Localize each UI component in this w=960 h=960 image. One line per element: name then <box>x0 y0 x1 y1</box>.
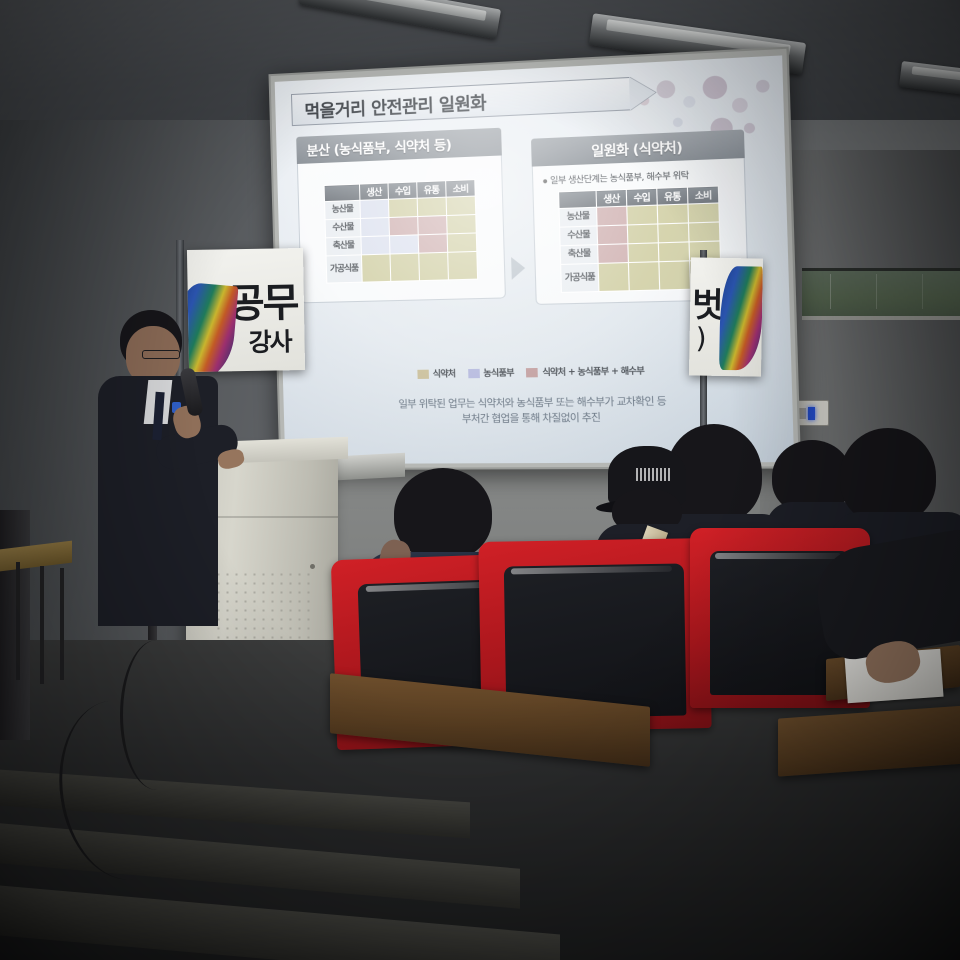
column-header: 유통 <box>417 181 446 198</box>
table-cell <box>361 254 390 282</box>
table-cell <box>597 206 628 226</box>
legend-item: 식약처 + 농식품부 + 해수부 <box>526 364 644 378</box>
chalkboard <box>802 268 960 320</box>
foreground-post <box>0 510 30 740</box>
legend-swatch <box>417 369 429 378</box>
legend-item: 식약처 <box>417 367 455 380</box>
table-cell <box>388 198 417 217</box>
legend-swatch <box>526 367 538 376</box>
panel-led-indicator <box>808 407 815 420</box>
table-cell <box>688 222 719 242</box>
table-cell <box>446 196 476 215</box>
table-cell <box>628 243 659 263</box>
table-row: 가공식품 <box>326 251 478 283</box>
column-header: 유통 <box>657 187 688 205</box>
row-header: 수산물 <box>325 218 361 237</box>
row-header: 축산물 <box>560 245 598 265</box>
podium-knob <box>310 564 315 569</box>
table-cell <box>598 263 629 292</box>
table-cell <box>447 233 477 252</box>
seat-highlight <box>715 553 841 559</box>
legend-label: 농식품부 <box>483 366 514 379</box>
column-header: 소비 <box>687 186 718 204</box>
legend-label: 식약처 <box>433 367 456 380</box>
audience-hair <box>840 428 936 524</box>
column-header: 수입 <box>626 188 657 206</box>
table-leg <box>16 562 20 680</box>
table-cell <box>360 218 389 237</box>
table-cell <box>658 223 689 243</box>
wall-control-panel[interactable] <box>795 400 829 426</box>
table-leg <box>60 568 64 680</box>
left-panel: 분산 (농식품부, 식약처 등) 생산 수입 유통 소비 농산물 <box>296 128 506 304</box>
left-table: 생산 수입 유통 소비 농산물 수산 <box>324 179 479 283</box>
table-cell <box>627 224 658 244</box>
table-cell <box>361 236 390 255</box>
presenter <box>98 310 238 640</box>
table-cell <box>360 199 389 218</box>
panel-switch[interactable] <box>799 408 806 419</box>
row-header: 농산물 <box>559 207 597 227</box>
table-leg <box>40 566 44 684</box>
cap-logo <box>636 468 670 481</box>
table-cell <box>627 205 658 225</box>
table-cell <box>389 235 418 254</box>
presenter-glasses-icon <box>142 350 180 359</box>
flow-arrow-icon <box>511 257 525 280</box>
table-cell <box>597 225 628 245</box>
row-header: 가공식품 <box>326 255 362 283</box>
column-header: 생산 <box>359 183 388 200</box>
row-header: 축산물 <box>326 237 362 256</box>
row-header: 농산물 <box>325 200 361 219</box>
column-header: 수입 <box>388 182 417 199</box>
floor-cable <box>120 640 193 790</box>
table-cell <box>389 217 418 236</box>
banner-left-line2: 강사 <box>248 322 291 359</box>
banner-right-graphic <box>719 266 763 371</box>
table-cell <box>598 244 629 264</box>
lecture-hall-photo: 먹을거리 안전관리 일원화 분산 (농식품부, 식약처 등) 생산 수입 유통 … <box>0 0 960 960</box>
left-panel-body: 생산 수입 유통 소비 농산물 수산 <box>297 155 506 303</box>
slide-title: 먹을거리 안전관리 일원화 <box>291 77 631 126</box>
table-cell <box>628 262 659 291</box>
row-header: 가공식품 <box>561 263 599 292</box>
table-cell <box>659 261 691 290</box>
row-header: 수산물 <box>560 226 598 246</box>
banner-right-line2: ) <box>695 321 705 354</box>
table-corner <box>324 184 360 201</box>
table-cell <box>688 203 719 223</box>
legend-label: 식약처 + 농식품부 + 해수부 <box>542 364 644 378</box>
column-header: 소비 <box>446 180 476 197</box>
table-cell <box>418 234 447 253</box>
table-cell <box>658 242 689 262</box>
table-cell <box>390 253 420 281</box>
table-cell <box>447 215 477 234</box>
column-header: 생산 <box>596 189 627 207</box>
table-cell <box>419 252 449 280</box>
table-cell <box>418 216 447 235</box>
legend-swatch <box>468 368 480 377</box>
audience-member-writing <box>830 520 960 740</box>
legend-item: 농식품부 <box>468 366 514 379</box>
table-corner <box>559 191 597 209</box>
table-cell <box>657 204 688 224</box>
table-cell <box>448 251 478 279</box>
table-cell <box>417 197 446 216</box>
banner-right: 벗들 ) <box>689 257 763 376</box>
right-panel-bullet: 일부 생산단계는 농식품부, 해수부 위탁 <box>543 167 735 187</box>
